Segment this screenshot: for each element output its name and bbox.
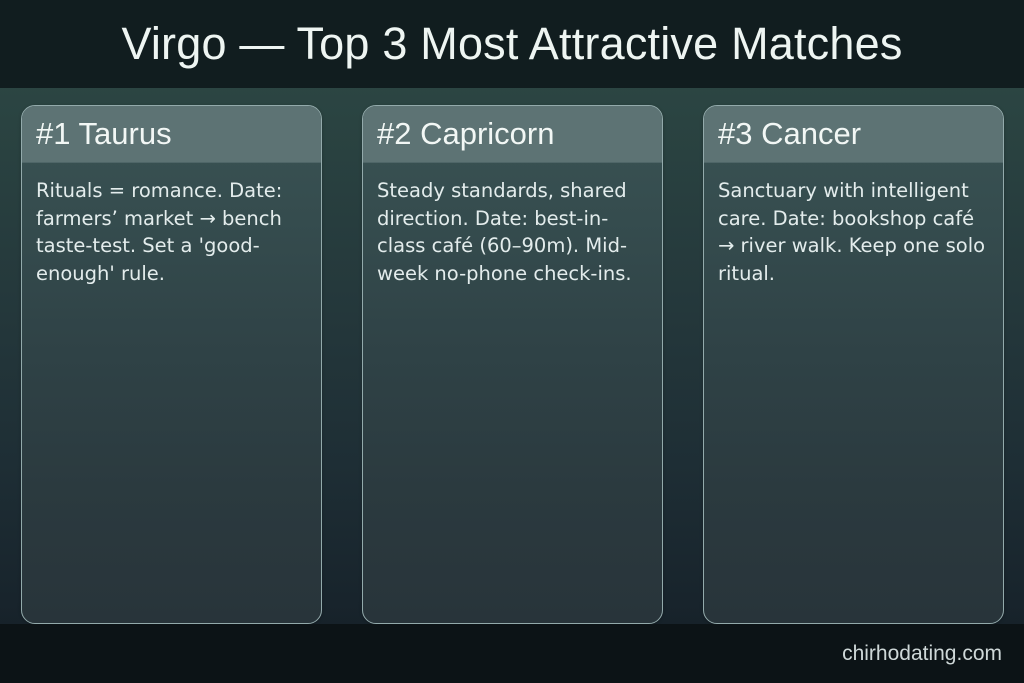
- match-card-3-header: #3 Cancer: [704, 106, 1003, 163]
- match-card-1-description: Rituals = romance. Date: farmers’ market…: [36, 177, 307, 288]
- match-card-2: #2 Capricorn Steady standards, shared di…: [362, 105, 663, 624]
- match-card-3-rank-label: #3 Cancer: [718, 116, 861, 152]
- match-card-3-description: Sanctuary with intelligent care. Date: b…: [718, 177, 989, 288]
- match-card-1-header: #1 Taurus: [22, 106, 321, 163]
- match-card-1: #1 Taurus Rituals = romance. Date: farme…: [21, 105, 322, 624]
- match-card-3-body: Sanctuary with intelligent care. Date: b…: [704, 163, 1003, 288]
- match-card-list: #1 Taurus Rituals = romance. Date: farme…: [21, 105, 1006, 624]
- match-card-3: #3 Cancer Sanctuary with intelligent car…: [703, 105, 1004, 624]
- slide-root: Virgo — Top 3 Most Attractive Matches #1…: [0, 0, 1024, 683]
- match-card-1-body: Rituals = romance. Date: farmers’ market…: [22, 163, 321, 288]
- footer-bar: chirhodating.com: [0, 624, 1024, 683]
- footer-site-label: chirhodating.com: [842, 642, 1002, 666]
- match-card-2-header: #2 Capricorn: [363, 106, 662, 163]
- page-title: Virgo — Top 3 Most Attractive Matches: [121, 18, 902, 70]
- match-card-2-description: Steady standards, shared direction. Date…: [377, 177, 648, 288]
- match-card-1-rank-label: #1 Taurus: [36, 116, 172, 152]
- title-bar: Virgo — Top 3 Most Attractive Matches: [0, 0, 1024, 88]
- match-card-2-body: Steady standards, shared direction. Date…: [363, 163, 662, 288]
- match-card-2-rank-label: #2 Capricorn: [377, 116, 554, 152]
